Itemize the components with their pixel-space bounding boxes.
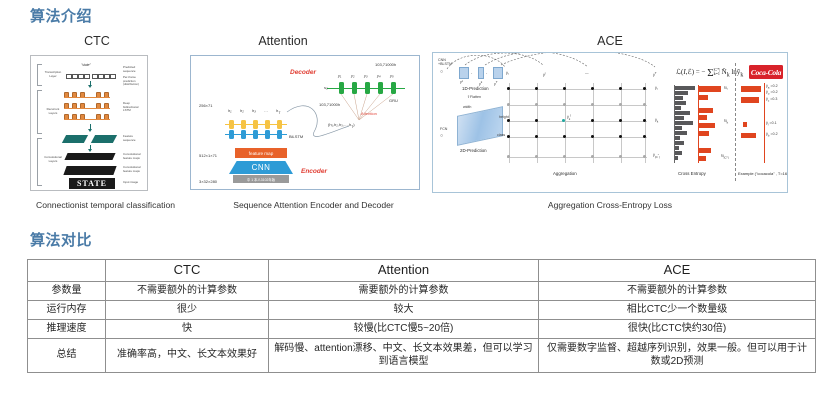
ctc-layer-label-convolutional: ConvolutionalLayers — [43, 156, 63, 163]
table-row: 运行内存 很少 较大 相比CTC少一个数量级 — [28, 301, 816, 320]
ctc-annot-convmap2: Convolutionalfeature maps — [123, 166, 145, 173]
table-cell-ace: 仅需要数字监督、超越序列识别，效果一般。但可以用于计数或2D预测 — [539, 339, 816, 373]
ace-yhat-label: ŷ₁ — [506, 71, 509, 75]
ace-y-superscript: y¹ — [460, 80, 463, 84]
ctc-brace-transcription — [37, 64, 42, 86]
ctc-input-image: STATE — [69, 178, 115, 189]
ace-node-marker: ○ — [440, 69, 443, 75]
table-cell-ace: 很快(比CTC快约30倍) — [539, 320, 816, 339]
ace-2d-prediction-label: 2D-Prediction — [460, 148, 487, 153]
figure-label-attention: Attention — [218, 34, 348, 48]
ace-example-yhat: ȳl =0.1 — [766, 121, 777, 127]
attention-context-label: (h₁,h₂,h₃,…,hT) — [328, 122, 355, 129]
attention-h-label: hT — [276, 108, 280, 115]
table-cell-attention: 解码慢、attention漂移、中文、长文本效果差，但可以学习到语言模型 — [269, 339, 539, 373]
table-header-row: CTC Attention ACE — [28, 260, 816, 282]
ace-example-yhat: ȳc =0.3 — [766, 97, 777, 103]
ctc-annot-input: Input image — [123, 181, 145, 185]
ctc-annot-featureseq: Featuresequence — [123, 135, 145, 142]
ace-fcn-label: FCN — [440, 127, 447, 131]
ace-ellipsis: - — [471, 71, 472, 75]
ace-flatten-label: ⇧Flatten — [467, 95, 481, 99]
table-row-metric: 总结 — [28, 339, 106, 373]
table-row: 参数量 不需要额外的计算参数 需要额外的计算参数 不需要额外的计算参数 — [28, 282, 816, 301]
ace-nbar-label: N̄|C*| — [721, 154, 729, 160]
attention-bilstm-link — [225, 134, 287, 135]
ace-nbar-label: N̄k — [724, 119, 728, 125]
attention-gru-link — [327, 88, 405, 89]
ace-1d-prediction-label: 1D-Prediction — [462, 86, 489, 91]
table-cell-ctc: 很少 — [106, 301, 269, 320]
figure-ace-diagram: CNN+BLSTM ○ FCN ○ - - y¹ yk yT 1D-Predic… — [432, 52, 788, 193]
attention-feature-map: feature map — [235, 148, 287, 158]
ace-cube-class-label: class — [497, 133, 505, 137]
figure-attention-diagram: 256×71 512×1×71 3×32×280 中 1 本人3102年版 CN… — [190, 55, 420, 190]
table-row: 总结 准确率高，中文、长文本效果好 解码慢、attention漂移、中文、长文本… — [28, 339, 816, 373]
attention-s0-label: s₀ — [324, 85, 328, 90]
table-row-metric: 参数量 — [28, 282, 106, 301]
ctc-layer-label-transcription: TranscriptionLayer — [43, 71, 63, 78]
attention-shape-256x71: 256×71 — [199, 103, 212, 108]
ace-example-yhat: ȳb =0.2 — [766, 132, 778, 138]
attention-attention-label: Attention — [361, 111, 377, 116]
ace-caption-cross-entropy: Cross Entropy — [678, 171, 706, 176]
figure-caption-ctc: Connectionist temporal classification — [8, 200, 203, 210]
attention-y-label: y₃ — [364, 73, 368, 78]
figure-ctc-diagram: TranscriptionLayer RecurrentLayers Convo… — [30, 55, 148, 191]
ace-caption-aggregation: Aggregation — [553, 171, 577, 176]
ace-loss-formula: ℒ(I,ℰ) = − Σ|C*|k=1 N̄k lnȳk — [676, 67, 743, 79]
ace-yhat-label: ŷT — [653, 71, 657, 77]
attention-hidden-dim-top: 103,71000h — [375, 62, 396, 67]
figure-label-ace: ACE — [520, 34, 700, 48]
table-cell-ctc: 快 — [106, 320, 269, 339]
attention-y-label: y₁ — [338, 73, 341, 78]
ctc-brace-convolutional — [37, 138, 42, 186]
ace-2d-cube — [457, 106, 503, 146]
ace-1d-chip — [459, 67, 469, 79]
attention-bilstm-link — [225, 124, 287, 125]
ctc-feature-seq — [62, 135, 88, 143]
table-header-attention: Attention — [269, 260, 539, 282]
ace-1d-chip — [478, 67, 484, 79]
table-header-ace: ACE — [539, 260, 816, 282]
ctc-flow-arrow — [88, 85, 92, 88]
attention-h-label: h₂ — [240, 108, 244, 113]
ace-ellipsis: - — [486, 71, 487, 75]
table-cell-ace: 相比CTC少一个数量级 — [539, 301, 816, 320]
ace-yhat-label: ŷj — [543, 71, 545, 77]
attention-input-image: 中 1 本人3102年版 — [233, 175, 289, 183]
attention-cnn-block: CNN — [229, 161, 293, 174]
section-title-intro: 算法介绍 — [30, 5, 92, 26]
ctc-layer-label-recurrent: RecurrentLayers — [43, 108, 63, 115]
table-cell-attention: 较大 — [269, 301, 539, 320]
attention-h-label: … — [264, 108, 268, 113]
ctc-conv-featmap — [63, 166, 116, 175]
figure-caption-attention: Sequence Attention Encoder and Decoder — [196, 200, 431, 210]
figure-caption-ace: Aggregation Cross-Entropy Loss — [490, 200, 730, 210]
ace-example-yhat: ȳo =0.2 — [766, 90, 778, 96]
table-header-blank — [28, 260, 106, 282]
table-cell-attention: 较慢(比CTC慢5~20倍) — [269, 320, 539, 339]
attention-y-label: y₄ — [377, 73, 381, 78]
table-cell-ctc: 准确率高，中文、长文本效果好 — [106, 339, 269, 373]
attention-y-label: y₂ — [351, 73, 355, 78]
table-row-metric: 推理速度 — [28, 320, 106, 339]
algorithm-comparison-table: CTC Attention ACE 参数量 不需要额外的计算参数 需要额外的计算… — [27, 259, 816, 373]
ace-cube-width-label: width — [463, 105, 471, 109]
attention-h-label: h₁ — [228, 108, 232, 113]
table-cell-ctc: 不需要额外的计算参数 — [106, 282, 269, 301]
ace-yk-cell-label: ŷkj — [567, 113, 571, 121]
attention-y-label: y₅ — [390, 73, 394, 78]
ace-ellipsis: — — [585, 71, 589, 75]
ace-cnn-blstm-label: CNN+BLSTM — [438, 59, 452, 67]
table-row: 推理速度 快 较慢(比CTC慢5~20倍) 很快(比CTC快约30倍) — [28, 320, 816, 339]
table-cell-ace: 不需要额外的计算参数 — [539, 282, 816, 301]
attention-hidden-dim-mid: 103,71000h — [319, 102, 340, 107]
table-header-ctc: CTC — [106, 260, 269, 282]
ctc-annot-convmap1: Convolutionalfeature maps — [123, 153, 145, 160]
ace-yhat-row-label: ȳ₁ — [655, 86, 658, 90]
ctc-conv-featmap — [64, 153, 115, 160]
ctc-prob-cell — [110, 74, 116, 79]
figure-label-ctc: CTC — [52, 34, 142, 48]
ace-nbar-label: N̄₁ — [724, 86, 728, 90]
ace-section-divider — [735, 63, 736, 181]
ace-yhat-row-label: ȳ|C*| — [653, 153, 660, 159]
slide-root: 算法介绍 CTC Attention ACE TranscriptionLaye… — [0, 0, 832, 404]
ace-y-superscript: yT — [494, 80, 498, 86]
ace-yhat-row-label: ȳk — [655, 118, 658, 124]
attention-decoder-label: Decoder — [290, 69, 316, 76]
ctc-flow-arrow — [88, 149, 92, 152]
table-cell-attention: 需要额外的计算参数 — [269, 282, 539, 301]
ace-1d-chip — [493, 67, 503, 79]
ace-brand-logo: Coca-Cola — [749, 65, 783, 79]
table-row-metric: 运行内存 — [28, 301, 106, 320]
ace-example-yhat: ȳa =0.2 — [766, 84, 778, 90]
section-title-compare: 算法对比 — [30, 229, 92, 250]
attention-bilstm-label: BiLSTM — [289, 134, 303, 139]
ctc-annot-predicted: Predictedsequence — [123, 66, 145, 73]
ctc-brace-recurrent — [37, 90, 42, 134]
ctc-prob-cell — [84, 74, 90, 79]
attention-encoder-label: Encoder — [301, 168, 327, 175]
ctc-annot-perframe: Per-frameprediction(distribution) — [123, 76, 145, 87]
ctc-feature-seq — [91, 135, 117, 143]
ace-node-marker: ○ — [440, 133, 443, 139]
attention-input-shape: 3×32×280 — [199, 179, 217, 184]
ctc-predicted-word: "state" — [81, 63, 91, 67]
attention-gru-label: GRU — [389, 98, 398, 103]
ctc-annot-lstm: DeepbidirectionalLSTM — [123, 102, 145, 113]
attention-shape-512x1x71: 512×1×71 — [199, 153, 217, 158]
ace-caption-example: Example ("cocacola" , T=16) — [738, 171, 788, 176]
ctc-flow-arrow — [88, 129, 92, 132]
attention-h-label: h₃ — [252, 108, 256, 113]
